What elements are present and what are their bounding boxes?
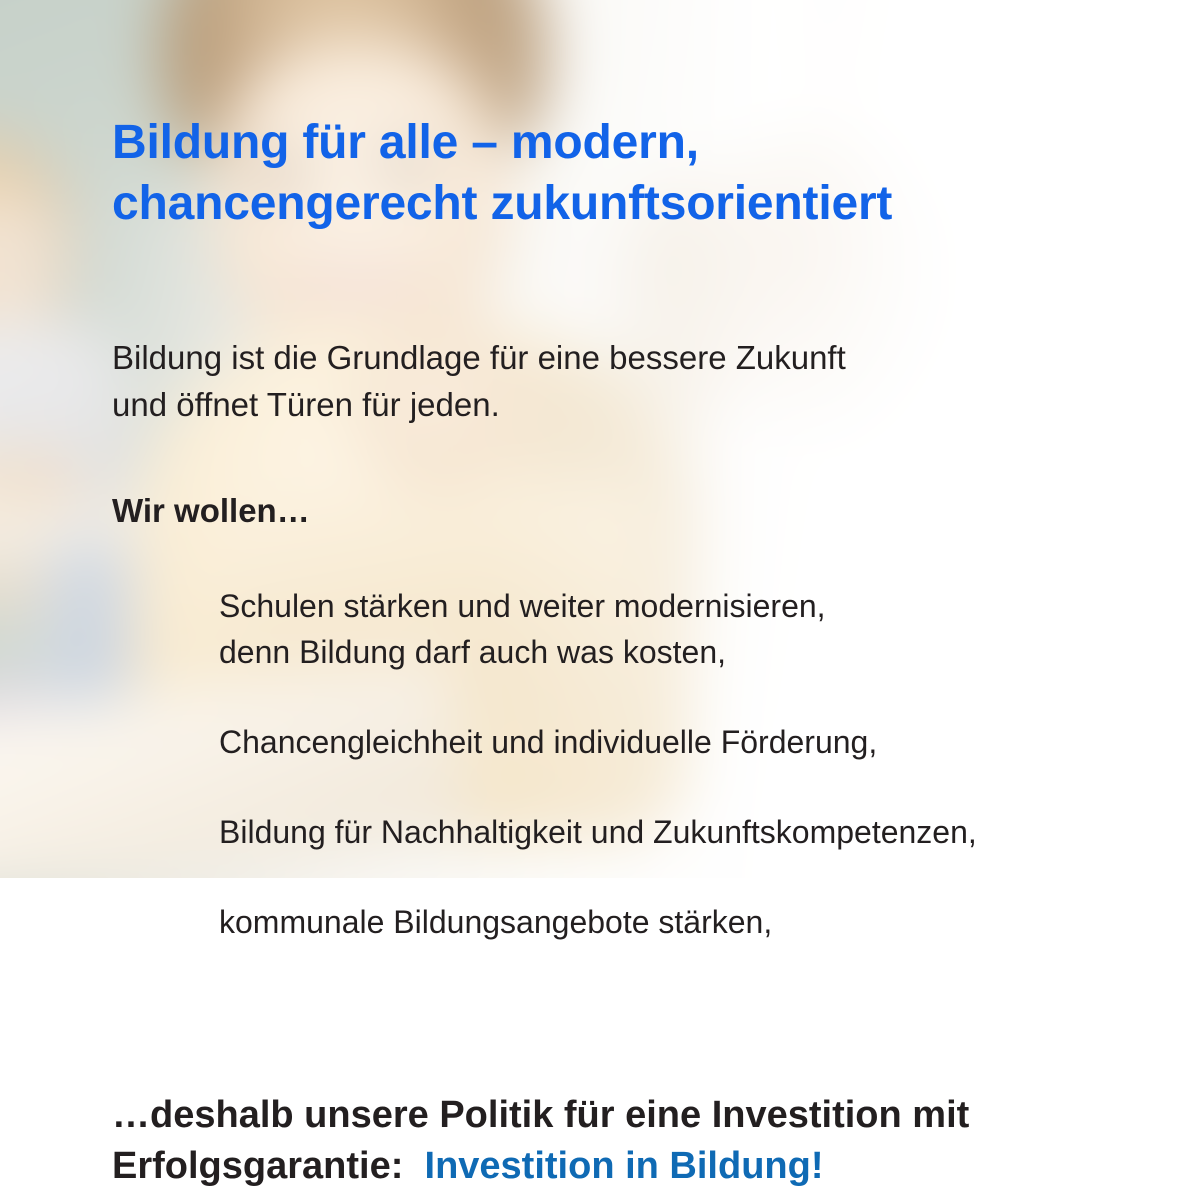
closing-line-2: Erfolgsgarantie: Investition in Bildung! — [112, 1141, 1192, 1187]
closing-line-2-prefix: Erfolgsgarantie: — [112, 1145, 403, 1187]
list-item-line-2: denn Bildung darf auch was kosten, — [219, 629, 1199, 675]
slide-title-line-1: Bildung für alle – modern, — [112, 113, 1202, 174]
list-item: Chancengleichheit und individuelle Förde… — [219, 719, 1199, 765]
lead-in-text: Wir wollen… — [112, 489, 310, 533]
closing-line-1: …deshalb unsere Politik für eine Investi… — [112, 1090, 1192, 1141]
list-item: Schulen stärken und weiter modernisieren… — [219, 583, 1199, 675]
list-item-line-1: kommunale Bildungsangebote stärken, — [219, 899, 1199, 945]
list-item-line-1: Schulen stärken und weiter modernisieren… — [219, 583, 1199, 629]
intro-line-2: und öffnet Türen für jeden. — [112, 381, 1182, 428]
closing-statement: …deshalb unsere Politik für eine Investi… — [112, 1090, 1192, 1187]
list-item-line-1: Bildung für Nachhaltigkeit und Zukunftsk… — [219, 809, 1199, 855]
closing-accent-phrase: Investition in Bildung! — [425, 1145, 824, 1187]
list-item: Bildung für Nachhaltigkeit und Zukunftsk… — [219, 809, 1199, 855]
slide-content: Bildung für alle – modern, chancengerech… — [0, 0, 1202, 1187]
list-item-line-1: Chancengleichheit und individuelle Förde… — [219, 719, 1199, 765]
intro-line-1: Bildung ist die Grundlage für eine besse… — [112, 334, 1182, 381]
goals-list: Schulen stärken und weiter modernisieren… — [219, 583, 1199, 945]
slide-title-line-2: chancengerecht zukunftsorientiert — [112, 174, 1202, 235]
slide-title: Bildung für alle – modern, chancengerech… — [112, 113, 1202, 235]
list-item: kommunale Bildungsangebote stärken, — [219, 899, 1199, 945]
intro-paragraph: Bildung ist die Grundlage für eine besse… — [112, 334, 1182, 428]
slide-canvas: Bildung für alle – modern, chancengerech… — [0, 0, 1202, 1187]
